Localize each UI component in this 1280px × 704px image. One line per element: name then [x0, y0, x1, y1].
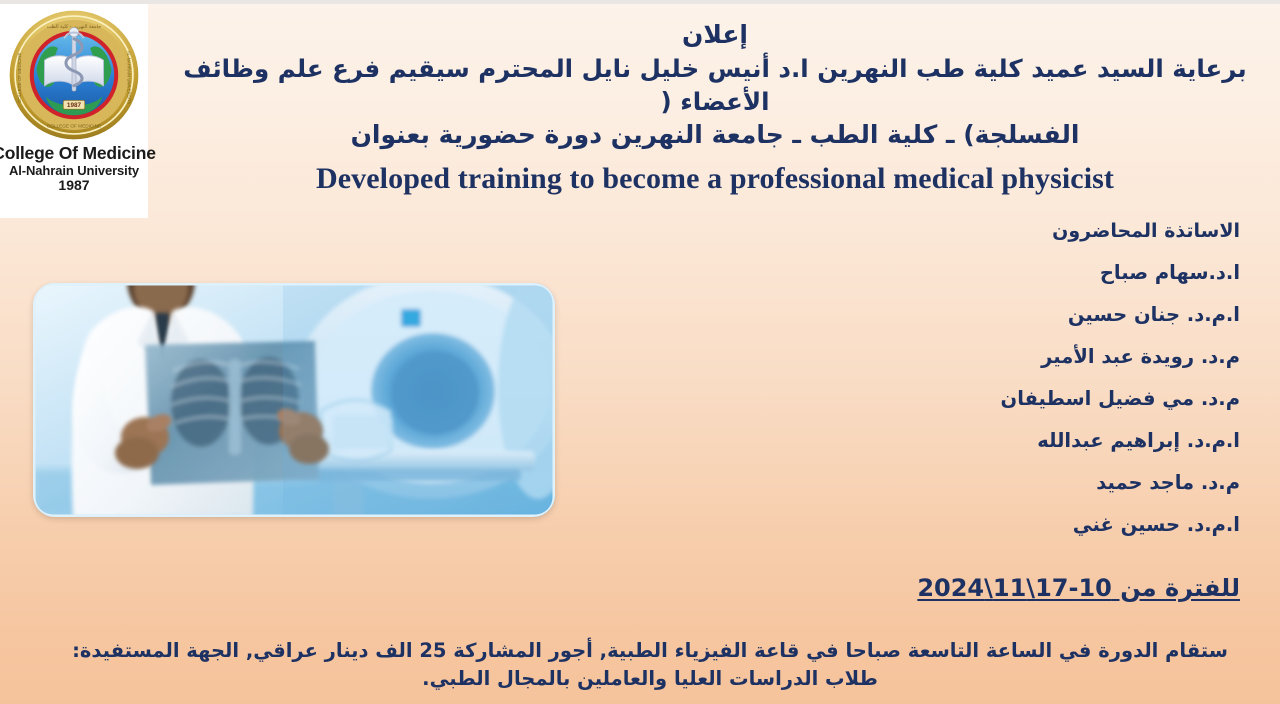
- svg-text:COLLEGE OF MEDICINE: COLLEGE OF MEDICINE: [47, 123, 101, 128]
- svg-text:1987: 1987: [67, 102, 82, 109]
- svg-text:COLLEGE OF MEDICINE: COLLEGE OF MEDICINE: [17, 52, 22, 102]
- al-nahrain-college-of-medicine-emblem: جامعة النهرين - كلية الطب COLLEGE OF MED…: [7, 8, 141, 142]
- course-announcement-poster: جامعة النهرين - كلية الطب COLLEGE OF MED…: [0, 0, 1280, 704]
- header-block: إعلان برعاية السيد عميد كلية طب النهرين …: [160, 18, 1270, 196]
- course-english-title: Developed training to become a professio…: [160, 162, 1270, 196]
- lecturers-list: الاساتذة المحاضرون ا.د.سهام صباح ا.م.د. …: [810, 220, 1240, 555]
- svg-text:AL-NAHRAIN UNIVERSITY: AL-NAHRAIN UNIVERSITY: [127, 51, 132, 105]
- announcement-body-line-2: الفسلجة) ـ كلية الطب ـ جامعة النهرين دور…: [160, 118, 1270, 151]
- lecturer-item: ا.م.د. جنان حسين: [810, 303, 1240, 326]
- announcement-heading: إعلان: [160, 18, 1270, 51]
- announcement-body-line-1: برعاية السيد عميد كلية طب النهرين ا.د أن…: [160, 53, 1270, 118]
- logo-line-university: Al-Nahrain University: [0, 164, 156, 179]
- lecturers-title: الاساتذة المحاضرون: [810, 220, 1240, 242]
- lecturer-item: م.د. مي فضيل اسطيفان: [810, 387, 1240, 410]
- top-edge-strip: [0, 0, 1280, 4]
- mri-doctor-illustration: [33, 283, 555, 517]
- course-date-range: للفترة من 10-17\11\2024: [917, 574, 1240, 602]
- lecturer-item: م.د. ماجد حميد: [810, 471, 1240, 494]
- lecturer-item: ا.م.د. إبراهيم عبدالله: [810, 429, 1240, 452]
- university-logo-box: جامعة النهرين - كلية الطب COLLEGE OF MED…: [0, 4, 148, 218]
- logo-line-college: College Of Medicine: [0, 144, 156, 164]
- lecturer-item: ا.د.سهام صباح: [810, 261, 1240, 284]
- mri-doctor-photo: [33, 283, 555, 517]
- lecturer-item: ا.م.د. حسين غني: [810, 513, 1240, 536]
- course-details-note: ستقام الدورة في الساعة التاسعة صباحا في …: [55, 637, 1245, 692]
- logo-line-year: 1987: [0, 178, 156, 194]
- lecturer-item: م.د. رويدة عبد الأمير: [810, 345, 1240, 368]
- logo-caption: College Of Medicine Al-Nahrain Universit…: [0, 144, 156, 194]
